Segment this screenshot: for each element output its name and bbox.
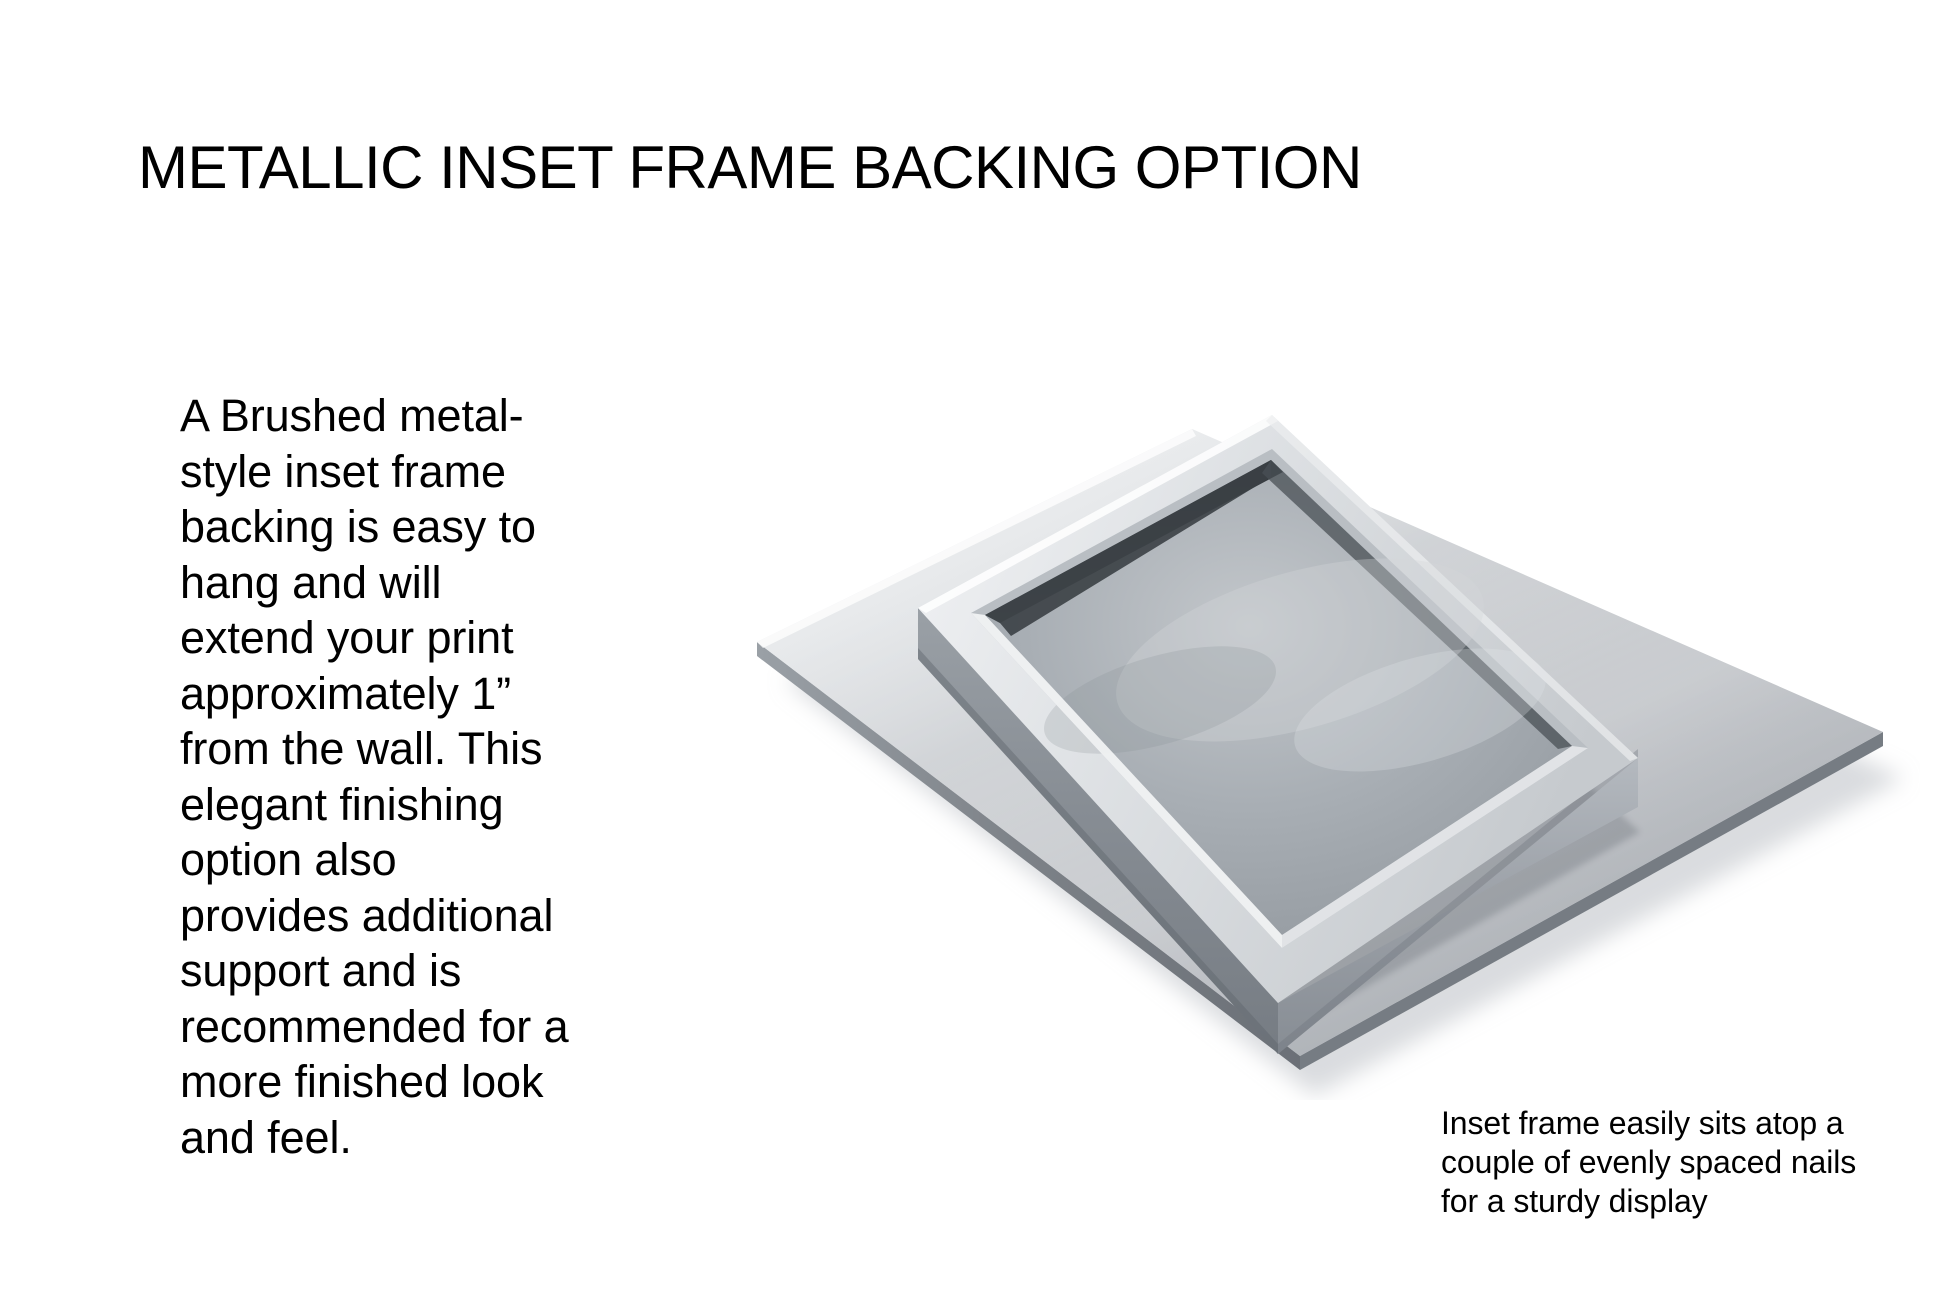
product-illustration-svg	[600, 380, 1920, 1100]
body-paragraph: A Brushed metal-style inset frame backin…	[180, 388, 570, 1165]
slide-canvas: METALLIC INSET FRAME BACKING OPTION A Br…	[0, 0, 1946, 1297]
product-photo-metallic-inset-frame	[600, 380, 1920, 1100]
photo-caption: Inset frame easily sits atop a couple of…	[1441, 1104, 1871, 1221]
page-title: METALLIC INSET FRAME BACKING OPTION	[138, 136, 1838, 200]
